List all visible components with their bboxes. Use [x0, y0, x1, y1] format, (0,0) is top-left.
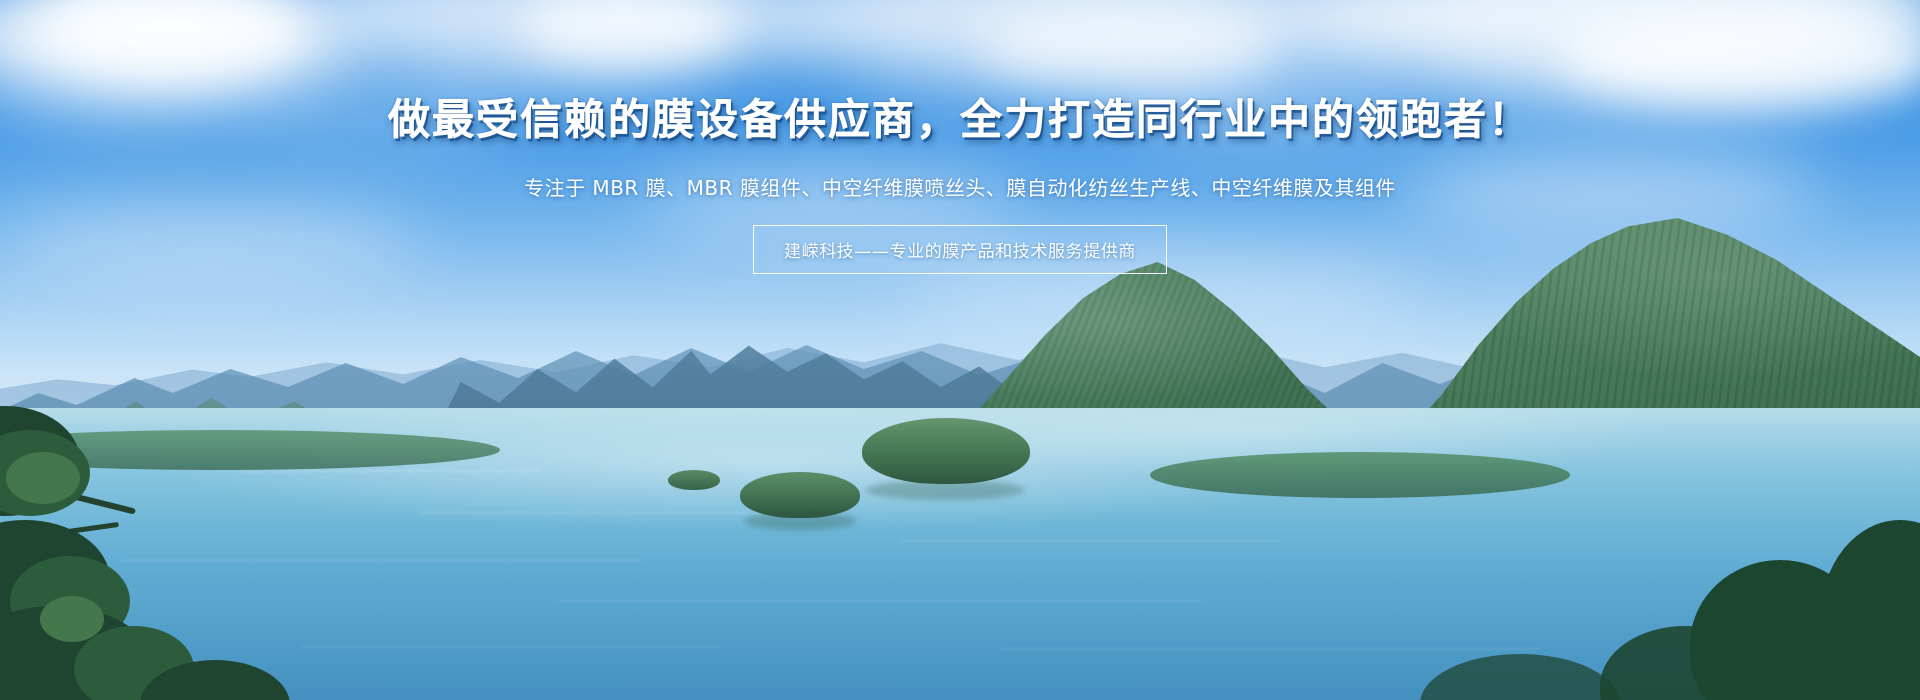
cloud-icon	[1120, 70, 1420, 132]
water-ripple	[300, 646, 720, 648]
island-reflection	[866, 480, 1024, 500]
right-shoreline	[1150, 452, 1570, 498]
water-ripple	[240, 470, 540, 472]
hero-banner: 做最受信赖的膜设备供应商，全力打造同行业中的领跑者！ 专注于 MBR 膜、MBR…	[0, 0, 1920, 700]
cloud-icon	[1400, 150, 1820, 228]
banner-tagline-box[interactable]: 建嵘科技——专业的膜产品和技术服务提供商	[753, 225, 1167, 274]
water-ripple	[560, 600, 1200, 602]
foliage-leaf	[6, 452, 80, 504]
island	[668, 470, 720, 490]
foliage-leaf	[40, 596, 104, 642]
water-ripple	[900, 540, 1280, 542]
island-reflection	[744, 512, 856, 530]
cloud-icon	[1560, 10, 1920, 106]
water-ripple	[120, 560, 640, 562]
water-ripple	[1000, 648, 1540, 650]
island	[862, 418, 1030, 484]
cloud-icon	[250, 90, 510, 140]
cloud-icon	[0, 200, 420, 280]
